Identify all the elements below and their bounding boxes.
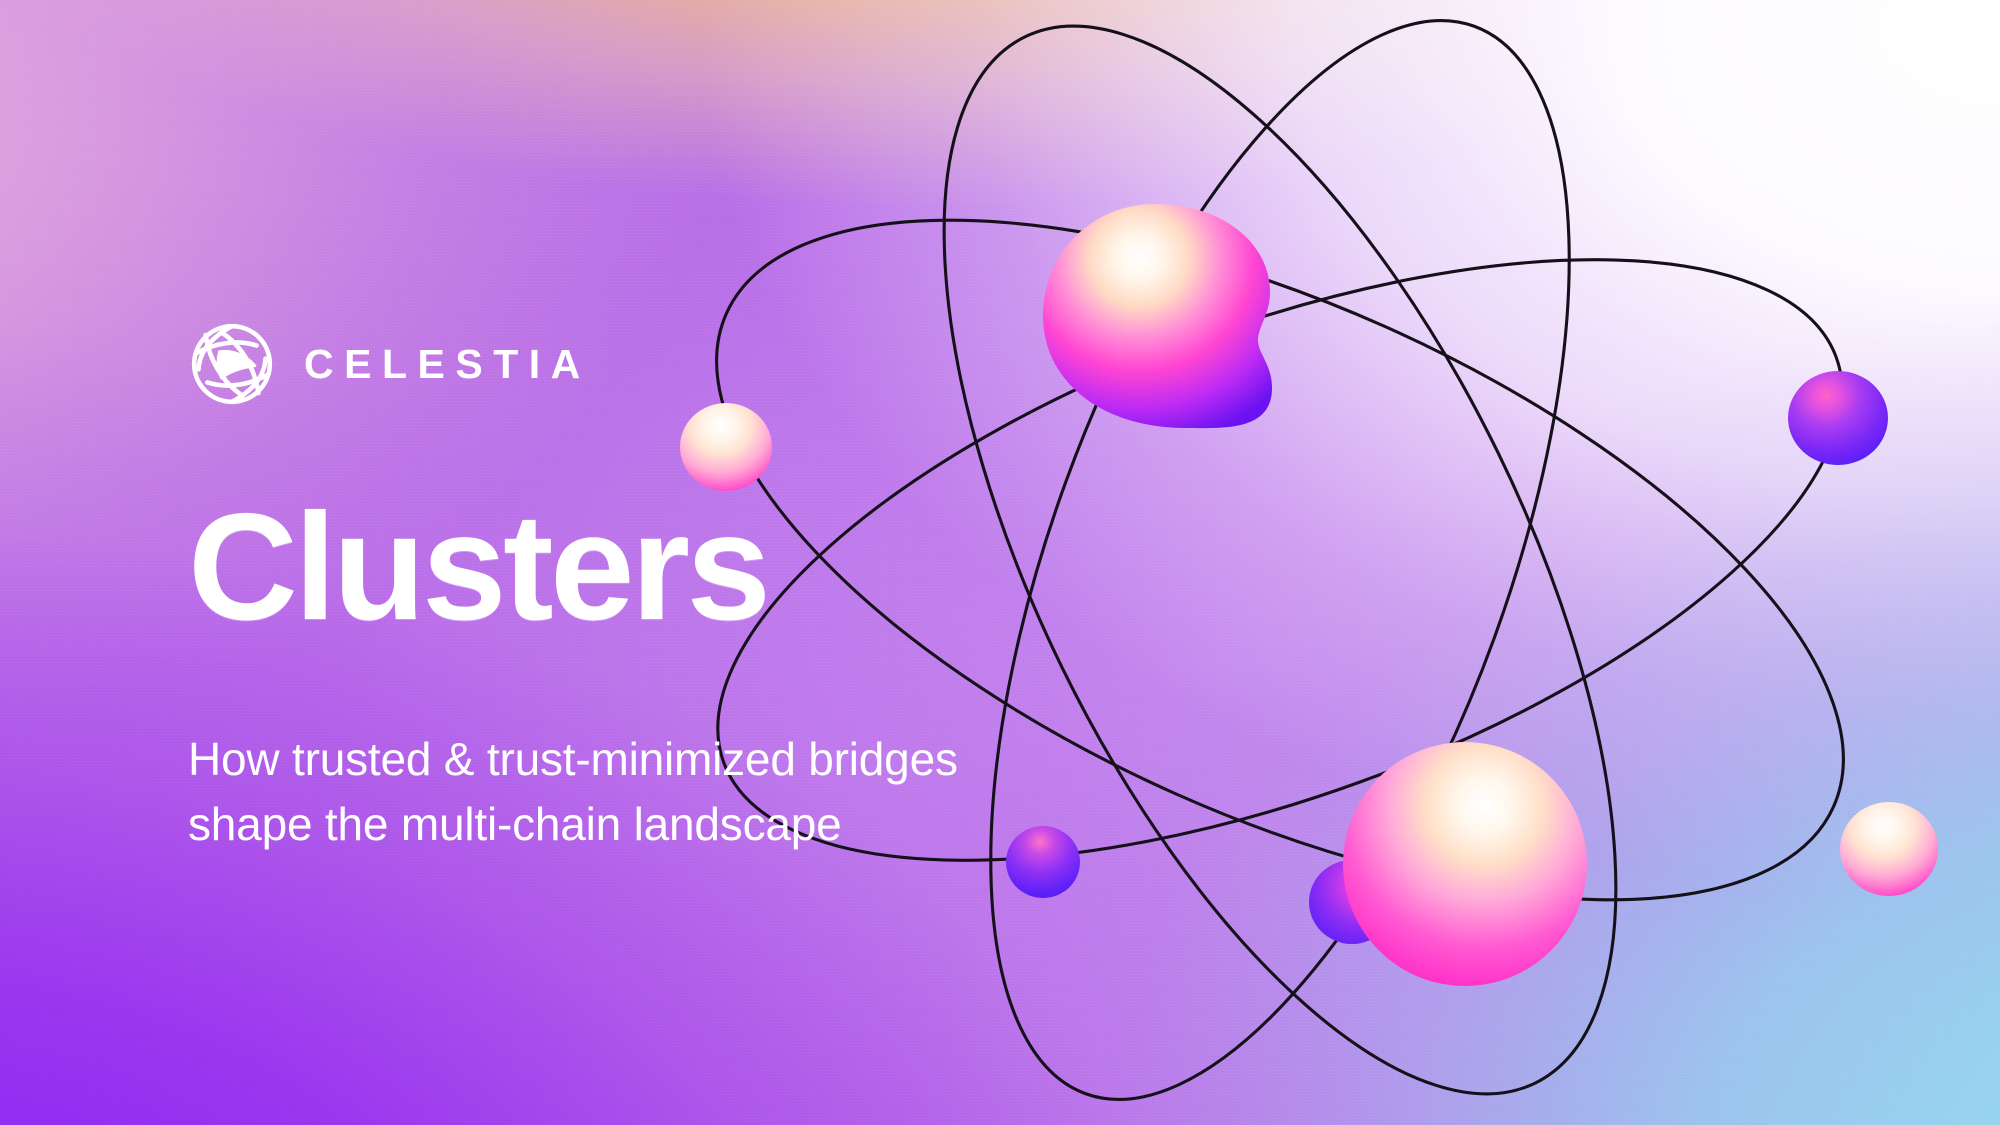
page-subtitle: How trusted & trust-minimized bridges sh… bbox=[188, 727, 958, 858]
content-block: CELESTIA Clusters How trusted & trust-mi… bbox=[188, 0, 1288, 1125]
poster-canvas: CELESTIA Clusters How trusted & trust-mi… bbox=[0, 0, 2000, 1125]
page-title: Clusters bbox=[188, 495, 767, 641]
page-subtitle-line-2: shape the multi-chain landscape bbox=[188, 792, 958, 857]
brand-lockup: CELESTIA bbox=[188, 320, 591, 408]
celestia-globe-icon bbox=[188, 320, 276, 408]
brand-name: CELESTIA bbox=[304, 344, 591, 385]
page-subtitle-line-1: How trusted & trust-minimized bridges bbox=[188, 727, 958, 792]
